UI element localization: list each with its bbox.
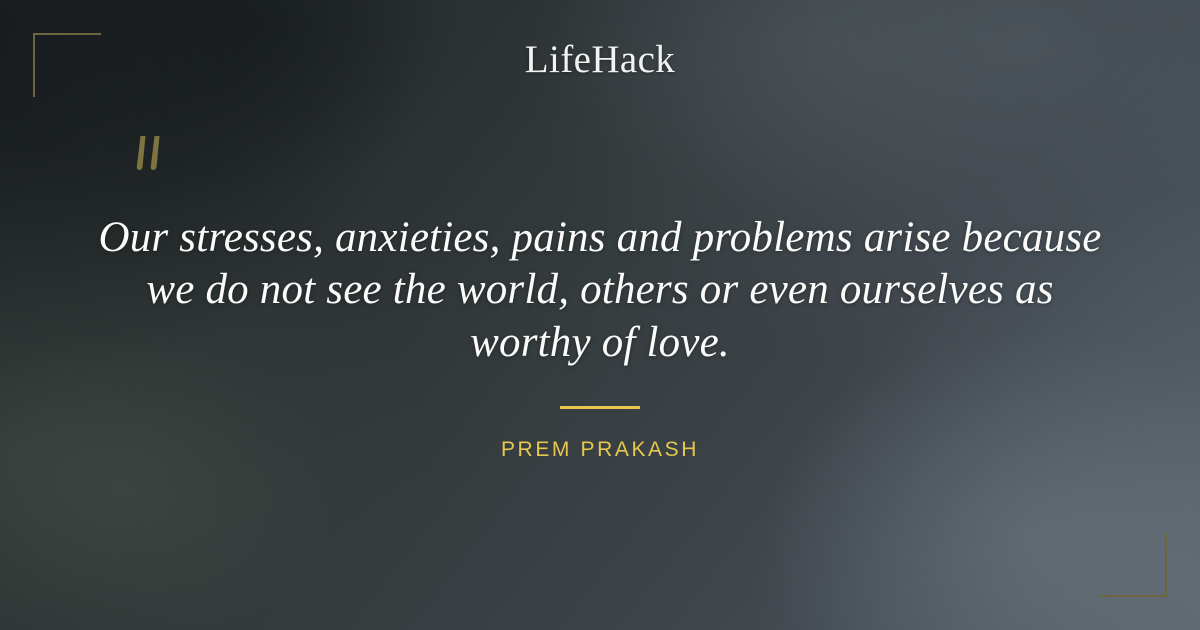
quote-block: Our stresses, anxieties, pains and probl…: [95, 212, 1105, 369]
quote-text: Our stresses, anxieties, pains and probl…: [95, 212, 1105, 369]
double-quote-icon: [124, 132, 184, 192]
background-glow-top-right: [560, 0, 1100, 210]
corner-bracket-top-left-horizontal: [33, 33, 101, 35]
corner-bracket-bottom-right: [1099, 533, 1167, 597]
corner-bracket-bottom-right-horizontal: [1099, 595, 1167, 597]
background-glow-bottom-right: [760, 330, 1200, 630]
author-divider: [560, 406, 640, 409]
lifehack-logo[interactable]: LifeHack: [0, 40, 1200, 79]
quote-card: LifeHack Our stresses, anxieties, pains …: [0, 0, 1200, 630]
background-shadow-top-left: [30, 0, 460, 190]
corner-bracket-bottom-right-vertical: [1165, 533, 1167, 597]
quote-author: PREM PRAKASH: [0, 438, 1200, 462]
background-glow-left: [0, 330, 340, 630]
